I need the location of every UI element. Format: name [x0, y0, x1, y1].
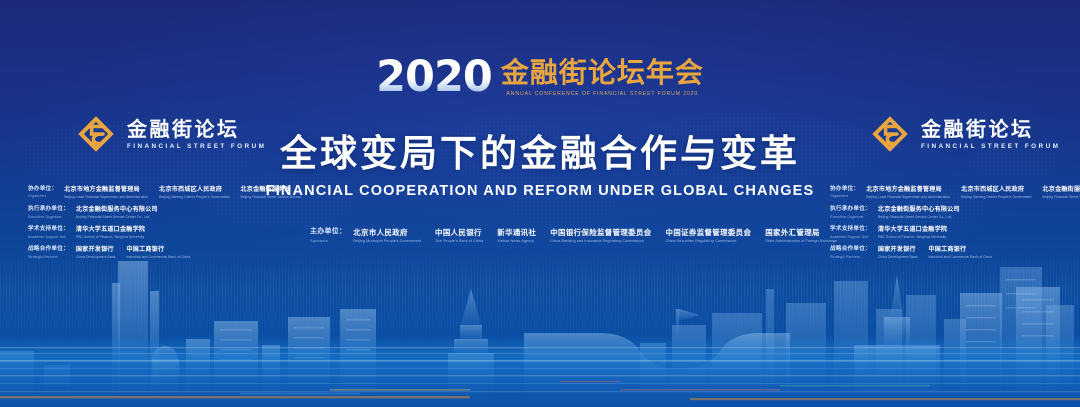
event-name-en: ANNUAL CONFERENCE OF FINANCIAL STREET FO…: [507, 91, 699, 97]
sponsor-item-list: 北京市地方金融监督管理局Beijing Local Financial Supe…: [866, 186, 1080, 199]
sponsor-item: 北京市西城区人民政府Beijing Xicheng District Peopl…: [159, 186, 229, 199]
forum-logo-name-en: FINANCIAL STREET FORUM: [127, 143, 266, 150]
sponsor-item-en: Beijing Financial Street Service Bureau: [241, 195, 302, 199]
sponsor-item: 北京金融街服务中心有限公司Beijing Financial Street Se…: [76, 206, 158, 219]
sponsor-item-cn: 北京金融街服务中心有限公司: [878, 206, 960, 214]
sponsor-item: 北京金融街服务局Beijing Financial Street Service…: [1043, 186, 1080, 199]
sponsor-row: 学术支持单位：Academic Support Unit清华大学五道口金融学院P…: [830, 226, 1080, 239]
sponsor-category-en: Strategic Partners: [28, 255, 69, 259]
sponsor-item-en: China Banking and Insurance Regulatory C…: [550, 239, 651, 243]
sponsor-item-en: Beijing Financial Street Service Center …: [878, 215, 960, 219]
sponsor-category-label: 战略合作单位：Strategic Partners: [28, 246, 69, 258]
sponsor-item: 中国证券监督管理委员会China Securities Regulatory C…: [666, 228, 752, 243]
sponsor-block-right: 协办单位：Organizers北京市地方金融监督管理局Beijing Local…: [830, 186, 1080, 266]
sponsor-category-cn: 战略合作单位：: [28, 246, 69, 253]
sponsor-item: 国家开发银行China Development Bank: [76, 246, 116, 259]
sponsor-item-cn: 新华通讯社: [497, 228, 536, 237]
sponsor-item-cn: 中国银行保险监督管理委员会: [550, 228, 651, 237]
sponsor-category-cn: 执行承办单位：: [830, 206, 871, 213]
sponsor-item-list: 北京金融街服务中心有限公司Beijing Financial Street Se…: [878, 206, 960, 219]
sponsor-item-en: China Development Bank: [878, 255, 918, 259]
road-glow: [0, 335, 1080, 407]
sponsor-row: 战略合作单位：Strategic Partners国家开发银行China Dev…: [830, 246, 1080, 259]
sponsor-item-list: 国家开发银行China Development Bank中国工商银行Indust…: [76, 246, 190, 259]
sponsor-item-en: PBC School of Finance, Tsinghua Universi…: [878, 235, 947, 239]
sponsor-item-cn: 清华大学五道口金融学院: [76, 226, 145, 234]
sponsor-item: 国家开发银行China Development Bank: [878, 246, 918, 259]
sponsor-row: 战略合作单位：Strategic Partners国家开发银行China Dev…: [28, 246, 290, 259]
sponsor-item-cn: 中国工商银行: [126, 246, 190, 254]
sponsor-item: 北京金融街服务局Beijing Financial Street Service…: [241, 186, 302, 199]
sponsor-item-cn: 北京金融街服务局: [1043, 186, 1080, 194]
sponsor-item-list: 北京金融街服务中心有限公司Beijing Financial Street Se…: [76, 206, 158, 219]
sponsor-row: 执行承办单位：Executive Organizer北京金融街服务中心有限公司B…: [28, 206, 290, 219]
sponsor-item-en: Beijing Financial Street Service Bureau: [1043, 195, 1080, 199]
sponsor-item-en: State Administration of Foreign Exchange: [765, 239, 837, 243]
sponsor-category-en: Executive Organizer: [28, 215, 69, 219]
forum-logo-name-cn: 金融街论坛: [127, 118, 266, 140]
sponsor-item-cn: 国家开发银行: [878, 246, 918, 254]
sponsor-item: 清华大学五道口金融学院PBC School of Finance, Tsingh…: [878, 226, 947, 239]
sponsor-category-cn: 执行承办单位：: [28, 206, 69, 213]
sponsor-item-en: Xinhua News Agency: [497, 239, 536, 243]
sponsor-item-en: China Securities Regulatory Commission: [666, 239, 752, 243]
sponsor-item: 国家外汇管理局State Administration of Foreign E…: [765, 228, 837, 243]
road-light-trails: [0, 337, 1080, 407]
sponsor-category-label: 学术支持单位：Academic Support Unit: [28, 226, 69, 238]
sponsor-row: 执行承办单位：Executive Organizer北京金融街服务中心有限公司B…: [830, 206, 1080, 219]
fs-monogram-diamond-icon: [74, 112, 118, 156]
sponsor-item-list: 北京市地方金融监督管理局Beijing Local Financial Supe…: [64, 186, 301, 199]
forum-logo-right: 金融街论坛 FINANCIAL STREET FORUM: [868, 112, 1060, 156]
event-year: 2020: [376, 57, 492, 98]
forum-logo-name-en: FINANCIAL STREET FORUM: [921, 143, 1060, 150]
sponsor-item: 清华大学五道口金融学院PBC School of Finance, Tsingh…: [76, 226, 145, 239]
forum-logo-left: 金融街论坛 FINANCIAL STREET FORUM: [74, 112, 266, 156]
sponsor-item-cn: 中国人民银行: [435, 228, 483, 237]
sponsor-item-cn: 北京金融街服务中心有限公司: [76, 206, 158, 214]
sponsor-item-list: 国家开发银行China Development Bank中国工商银行Indust…: [878, 246, 992, 259]
conference-backdrop: 2020 金融街论坛年会 ANNUAL CONFERENCE OF FINANC…: [0, 0, 1080, 407]
sponsor-item-en: Beijing Xicheng District People's Govern…: [961, 195, 1031, 199]
sponsor-item-en: PBC School of Finance, Tsinghua Universi…: [76, 235, 145, 239]
sponsor-block-left: 协办单位：Organizers北京市地方金融监督管理局Beijing Local…: [28, 186, 290, 266]
sponsor-row: 协办单位：Organizers北京市地方金融监督管理局Beijing Local…: [830, 186, 1080, 199]
sponsor-item-cn: 北京市西城区人民政府: [961, 186, 1031, 194]
sponsor-item-cn: 清华大学五道口金融学院: [878, 226, 947, 234]
sponsor-item: 新华通讯社Xinhua News Agency: [497, 228, 536, 243]
sponsor-item: 北京市西城区人民政府Beijing Xicheng District Peopl…: [961, 186, 1031, 199]
sponsor-category-label: 战略合作单位：Strategic Partners: [830, 246, 871, 258]
sponsor-item-list: 清华大学五道口金融学院PBC School of Finance, Tsingh…: [878, 226, 947, 239]
sponsor-item-en: Beijing Local Financial Supervision and …: [64, 195, 148, 199]
sponsor-category-cn: 协办单位：: [28, 186, 57, 193]
sponsor-item-en: Industrial and Commercial Bank of China: [126, 255, 190, 259]
sponsor-category-cn: 主办单位：: [310, 228, 346, 237]
sponsor-item-en: Beijing Xicheng District People's Govern…: [159, 195, 229, 199]
sponsor-category-cn: 战略合作单位：: [830, 246, 871, 253]
sponsor-item-cn: 北京市西城区人民政府: [159, 186, 229, 194]
beijing-skyline-silhouette: [0, 247, 1080, 407]
sponsor-item-cn: 北京金融街服务局: [241, 186, 302, 194]
sponsor-item-cn: 北京市地方金融监督管理局: [866, 186, 950, 194]
sponsor-item-cn: 北京市人民政府: [353, 228, 421, 237]
sponsor-item-list: 北京市人民政府Beijing Municipal People's Govern…: [353, 228, 837, 243]
sponsor-category-label: 协办单位：Organizers: [28, 186, 57, 198]
sponsor-category-label: 执行承办单位：Executive Organizer: [830, 206, 871, 218]
sponsor-block-center: 主办单位：Sponsors北京市人民政府Beijing Municipal Pe…: [310, 228, 780, 243]
sponsor-item: 北京金融街服务中心有限公司Beijing Financial Street Se…: [878, 206, 960, 219]
sponsor-item: 北京市地方金融监督管理局Beijing Local Financial Supe…: [866, 186, 950, 199]
sponsor-item-cn: 中国证券监督管理委员会: [666, 228, 752, 237]
sponsor-category-en: Strategic Partners: [830, 255, 871, 259]
sponsor-item-en: Beijing Local Financial Supervision and …: [866, 195, 950, 199]
sponsor-item-cn: 国家开发银行: [76, 246, 116, 254]
sponsor-item-en: Beijing Financial Street Service Center …: [76, 215, 158, 219]
sponsor-category-label: 协办单位：Organizers: [830, 186, 859, 198]
sponsor-item-cn: 北京市地方金融监督管理局: [64, 186, 148, 194]
sponsor-item-cn: 国家外汇管理局: [765, 228, 837, 237]
forum-logo-name-cn: 金融街论坛: [921, 118, 1060, 140]
sponsor-category-cn: 协办单位：: [830, 186, 859, 193]
sponsor-item: 北京市地方金融监督管理局Beijing Local Financial Supe…: [64, 186, 148, 199]
sponsor-row: 学术支持单位：Academic Support Unit清华大学五道口金融学院P…: [28, 226, 290, 239]
sponsor-item-en: China Development Bank: [76, 255, 116, 259]
sponsor-item: 中国人民银行The People's Bank of China: [435, 228, 483, 243]
sponsor-item: 中国银行保险监督管理委员会China Banking and Insurance…: [550, 228, 651, 243]
sponsor-item-en: The People's Bank of China: [435, 239, 483, 243]
event-headline: 2020 金融街论坛年会 ANNUAL CONFERENCE OF FINANC…: [0, 57, 1080, 98]
sponsor-category-en: Executive Organizer: [830, 215, 871, 219]
sponsor-category-en: Organizers: [28, 194, 57, 198]
sponsor-item-en: Industrial and Commercial Bank of China: [928, 255, 992, 259]
sponsor-category-label: 执行承办单位：Executive Organizer: [28, 206, 69, 218]
sponsor-item-en: Beijing Municipal People's Government: [353, 239, 421, 243]
event-name-cn: 金融街论坛年会: [501, 58, 704, 88]
sponsor-item: 中国工商银行Industrial and Commercial Bank of …: [126, 246, 190, 259]
sponsor-category-en: Organizers: [830, 194, 859, 198]
sponsor-item-list: 清华大学五道口金融学院PBC School of Finance, Tsingh…: [76, 226, 145, 239]
sponsor-row: 协办单位：Organizers北京市地方金融监督管理局Beijing Local…: [28, 186, 290, 199]
sponsor-item: 北京市人民政府Beijing Municipal People's Govern…: [353, 228, 421, 243]
fs-monogram-diamond-icon: [868, 112, 912, 156]
sponsor-category-label: 主办单位：Sponsors: [310, 228, 346, 243]
sponsor-row: 主办单位：Sponsors北京市人民政府Beijing Municipal Pe…: [310, 228, 780, 243]
sponsor-item: 中国工商银行Industrial and Commercial Bank of …: [928, 246, 992, 259]
sponsor-category-cn: 学术支持单位：: [28, 226, 69, 233]
sponsor-category-en: Academic Support Unit: [28, 235, 69, 239]
sponsor-item-cn: 中国工商银行: [928, 246, 992, 254]
sponsor-category-en: Sponsors: [310, 238, 346, 243]
